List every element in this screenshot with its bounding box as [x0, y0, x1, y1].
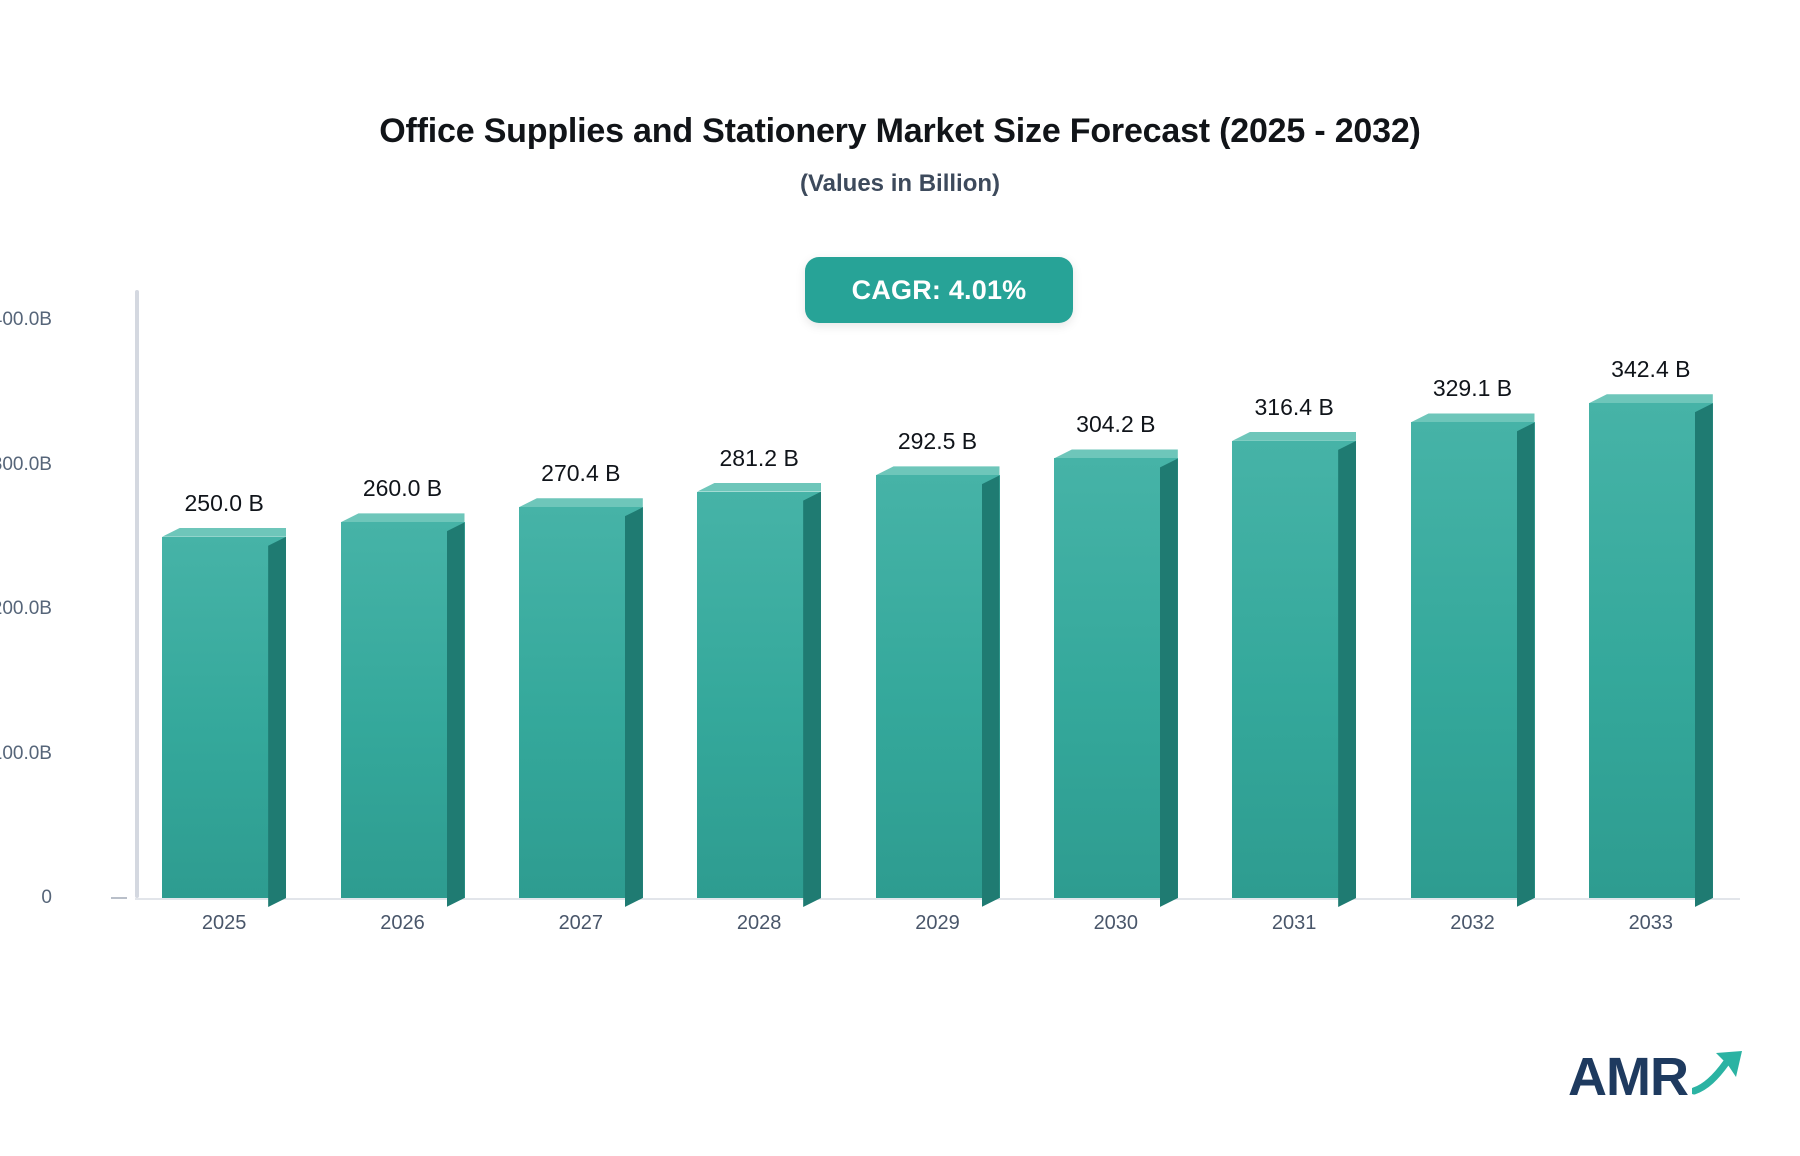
bar-top-face — [1589, 394, 1713, 403]
bar-side-shadow — [268, 537, 286, 907]
bar-top-face — [519, 498, 643, 507]
bar-side-shadow — [625, 507, 643, 907]
y-axis-tick-label: 100.0B — [0, 743, 52, 765]
bar-value-label: 304.2 B — [1076, 411, 1155, 438]
x-axis-tick-label: 2028 — [670, 912, 848, 935]
bar-side-shadow — [1517, 422, 1535, 907]
y-axis-tick-label: 200.0B — [0, 598, 52, 620]
bar-top-face — [1411, 413, 1535, 422]
bar-side-shadow — [447, 522, 465, 907]
bar: 342.4 B — [1589, 403, 1713, 898]
bar: 329.1 B — [1411, 422, 1535, 898]
bar: 250.0 B — [162, 537, 286, 898]
bar: 316.4 B — [1232, 441, 1356, 898]
x-axis-tick-label: 2025 — [135, 912, 313, 935]
bar-value-label: 250.0 B — [185, 490, 264, 517]
bar-side-shadow — [1695, 403, 1713, 907]
x-axis-tick-label: 2030 — [1027, 912, 1205, 935]
bar-face — [519, 507, 643, 898]
bar-side-shadow — [803, 492, 821, 907]
y-axis-tick-label: 400.0B — [0, 309, 52, 331]
bar-value-label: 260.0 B — [363, 475, 442, 502]
bar-top-face — [162, 528, 286, 537]
bar-value-label: 292.5 B — [898, 428, 977, 455]
bar-value-label: 281.2 B — [720, 445, 799, 472]
y-axis-tick-label: 0 — [0, 887, 52, 909]
page-title: Office Supplies and Stationery Market Si… — [0, 112, 1800, 151]
bar-top-face — [697, 483, 821, 492]
bar-face — [1589, 403, 1713, 898]
bar: 270.4 B — [519, 507, 643, 898]
bar-face — [1411, 422, 1535, 898]
amr-logo-text: AMR — [1568, 1050, 1688, 1104]
y-axis-tick-mark — [111, 897, 127, 899]
bar: 281.2 B — [697, 492, 821, 898]
chart-page: Office Supplies and Stationery Market Si… — [0, 0, 1800, 1156]
bar-value-label: 329.1 B — [1433, 375, 1512, 402]
y-axis-tick-label: 300.0B — [0, 454, 52, 476]
x-axis-tick-label: 2029 — [848, 912, 1026, 935]
bar-face — [697, 492, 821, 898]
x-axis-tick-label: 2031 — [1205, 912, 1383, 935]
bar: 304.2 B — [1054, 458, 1178, 898]
bar-face — [1232, 441, 1356, 898]
bar-value-label: 316.4 B — [1255, 394, 1334, 421]
plot-area: 0100.0B200.0B300.0B400.0B 250.0 B260.0 B… — [135, 290, 1740, 900]
bar-side-shadow — [1338, 441, 1356, 907]
trend-arrow-up-icon — [1692, 1049, 1748, 1100]
x-axis-tick-label: 2032 — [1383, 912, 1561, 935]
bar-face — [341, 522, 465, 898]
amr-logo: AMR — [1568, 1049, 1748, 1104]
chart-subtitle: (Values in Billion) — [0, 170, 1800, 198]
bar-top-face — [341, 513, 465, 522]
x-axis-tick-label: 2027 — [492, 912, 670, 935]
bar-value-label: 270.4 B — [541, 460, 620, 487]
y-axis-line — [135, 290, 139, 898]
bar-value-label: 342.4 B — [1611, 356, 1690, 383]
x-axis-tick-label: 2033 — [1562, 912, 1740, 935]
bar-face — [162, 537, 286, 898]
x-axis-line — [135, 898, 1740, 900]
bar-top-face — [1232, 432, 1356, 441]
bar: 260.0 B — [341, 522, 465, 898]
bar: 292.5 B — [876, 475, 1000, 898]
bar-side-shadow — [1160, 458, 1178, 907]
bar-top-face — [1054, 449, 1178, 458]
bar-side-shadow — [982, 475, 1000, 907]
bar-face — [1054, 458, 1178, 898]
bar-face — [876, 475, 1000, 898]
bar-top-face — [876, 466, 1000, 475]
x-axis-tick-label: 2026 — [313, 912, 491, 935]
